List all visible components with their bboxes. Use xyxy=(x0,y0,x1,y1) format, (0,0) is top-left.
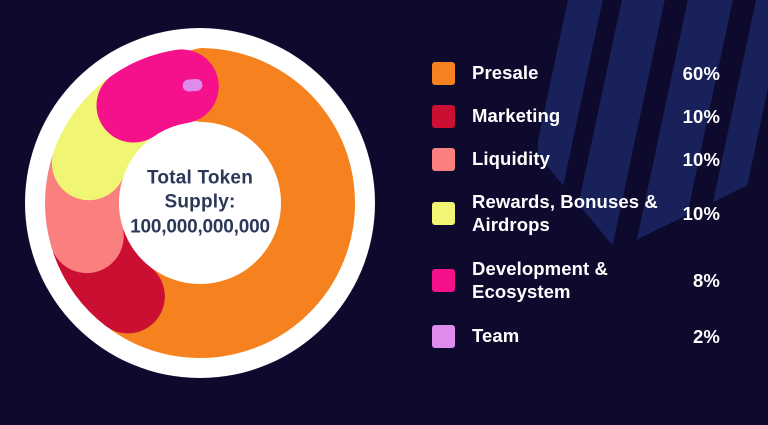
center-total-supply-value: 100,000,000,000 xyxy=(95,215,305,239)
legend-row[interactable]: Rewards, Bonuses & Airdrops10% xyxy=(432,191,720,236)
legend-color-swatch xyxy=(432,202,455,225)
legend-color-swatch xyxy=(432,105,455,128)
center-total-supply-label: Total Token Supply: 100,000,000,000 xyxy=(95,167,305,240)
donut-chart: Total Token Supply: 100,000,000,000 xyxy=(25,28,375,378)
legend-label: Marketing xyxy=(472,105,672,128)
donut-slice[interactable] xyxy=(134,86,182,105)
legend-row[interactable]: Presale60% xyxy=(432,62,720,85)
legend-label: Rewards, Bonuses & Airdrops xyxy=(472,191,672,236)
legend: Presale60%Marketing10%Liquidity10%Reward… xyxy=(432,62,720,348)
legend-percent: 2% xyxy=(672,326,720,348)
legend-row[interactable]: Team2% xyxy=(432,325,720,348)
tokenomics-infographic: Total Token Supply: 100,000,000,000 Pres… xyxy=(0,0,768,425)
legend-percent: 8% xyxy=(672,270,720,292)
legend-label: Development & Ecosystem xyxy=(472,258,672,303)
legend-row[interactable]: Development & Ecosystem8% xyxy=(432,258,720,303)
legend-color-swatch xyxy=(432,148,455,171)
legend-percent: 60% xyxy=(672,63,720,85)
legend-color-swatch xyxy=(432,62,455,85)
center-line-1: Total Token xyxy=(147,168,253,189)
legend-percent: 10% xyxy=(672,203,720,225)
center-line-2: Supply: xyxy=(164,192,235,213)
legend-row[interactable]: Marketing10% xyxy=(432,105,720,128)
legend-row[interactable]: Liquidity10% xyxy=(432,148,720,171)
legend-percent: 10% xyxy=(672,106,720,128)
legend-label: Presale xyxy=(472,62,672,85)
legend-percent: 10% xyxy=(672,149,720,171)
legend-label: Team xyxy=(472,325,672,348)
legend-color-swatch xyxy=(432,269,455,292)
legend-color-swatch xyxy=(432,325,455,348)
legend-label: Liquidity xyxy=(472,148,672,171)
